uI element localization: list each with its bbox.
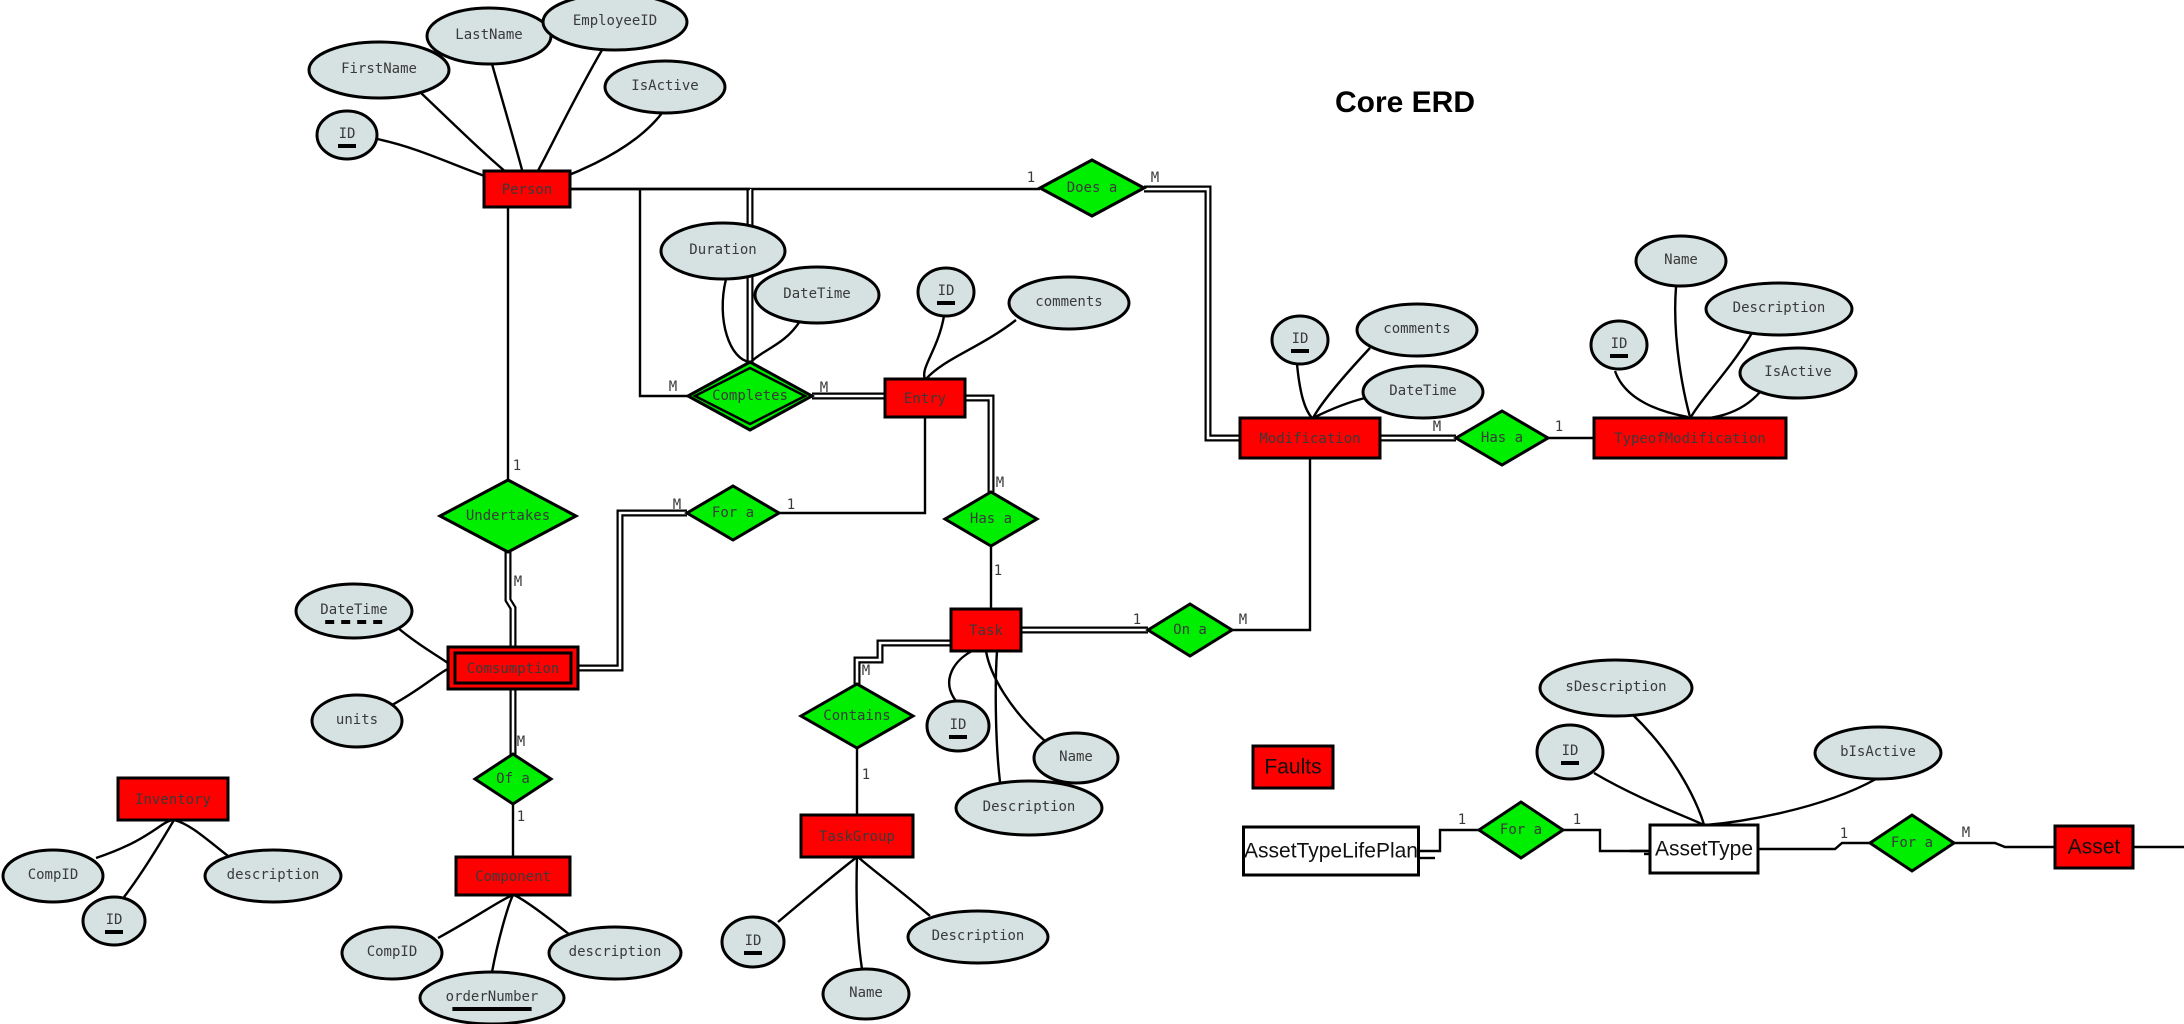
attribute-person-lastname[interactable]: LastName [427, 8, 551, 64]
attribute-person-isactive[interactable]: IsActive [605, 61, 725, 113]
entity-label: Inventory [135, 792, 211, 808]
attribute-label: ID [1611, 336, 1628, 352]
relationship-for-a-atlp[interactable]: For a [1479, 802, 1563, 858]
cardinality-card-undertakes-cons: M [514, 574, 522, 590]
entity-label: TaskGroup [819, 829, 895, 845]
entity-comsumption[interactable]: Comsumption [448, 647, 578, 689]
attribute-cons-datetime[interactable]: DateTime [296, 584, 412, 638]
cardinality-card-fora2-asset: M [1962, 825, 1970, 841]
relationship-for-a-at[interactable]: For a [1870, 815, 1954, 871]
cardinality-card-person-undertakes: 1 [513, 458, 521, 474]
edge-mod-comments [1313, 348, 1370, 418]
entity-label: Modification [1259, 431, 1360, 447]
attribute-label: Description [983, 799, 1076, 815]
attribute-label: DateTime [320, 602, 387, 618]
attribute-label: IsActive [631, 78, 698, 94]
edge-comsumption-fora-inner [578, 513, 687, 668]
edge-cons-datetime [398, 628, 451, 668]
attribute-mod-datetime[interactable]: DateTime [1363, 366, 1483, 418]
attribute-cons-units[interactable]: units [312, 695, 402, 747]
attribute-inv-description[interactable]: description [205, 850, 341, 902]
attribute-label: ID [1292, 331, 1309, 347]
entity-label: Task [969, 623, 1003, 639]
attribute-label: CompID [28, 867, 79, 883]
relationship-label: Contains [823, 708, 890, 724]
relationship-has-a-mod[interactable]: Has a [1456, 411, 1548, 465]
edge-cons-units [392, 669, 448, 705]
attribute-comp-compid[interactable]: CompID [342, 927, 442, 979]
relationship-for-a-entry[interactable]: For a [687, 486, 779, 540]
relationship-completes[interactable]: Completes [688, 362, 812, 430]
entity-typeofmodification[interactable]: TypeofModification [1594, 418, 1786, 458]
page-title: Core ERD [1335, 86, 1475, 119]
edge-at-id [1594, 773, 1704, 825]
attribute-mod-id[interactable]: ID [1272, 316, 1328, 364]
attribute-at-bisactive[interactable]: bIsActive [1815, 727, 1941, 779]
relationship-contains[interactable]: Contains [801, 684, 913, 748]
attribute-label: FirstName [341, 61, 417, 77]
edge-atlp-fora [1419, 830, 1479, 851]
cardinality-card-person-completes: M [669, 379, 677, 395]
relationship-label: On a [1173, 622, 1207, 638]
entity-label: Asset [2068, 836, 2121, 859]
relationship-has-a-task[interactable]: Has a [945, 492, 1037, 546]
edge-doesa-modification [1144, 189, 1240, 438]
attribute-task-id[interactable]: ID [927, 701, 989, 751]
entity-label: Faults [1264, 756, 1321, 779]
attribute-tg-name[interactable]: Name [823, 969, 909, 1019]
relationship-label: Of a [496, 771, 530, 787]
relationship-label: Undertakes [466, 508, 550, 524]
attribute-label: ID [339, 126, 356, 142]
attribute-label: ID [938, 283, 955, 299]
relationship-label: For a [1500, 822, 1542, 838]
cardinality-card-task-ona: 1 [1133, 612, 1141, 628]
attribute-label: description [569, 944, 662, 960]
edge-comp-ordernumber [492, 895, 513, 972]
erd-canvas: PersonEntryModificationTypeofModificatio… [0, 0, 2184, 1024]
entity-component[interactable]: Component [456, 857, 570, 895]
edge-at-bisactive [1706, 779, 1876, 825]
attribute-label: Name [849, 985, 883, 1001]
attribute-label: comments [1383, 321, 1450, 337]
edge-assettype-fora2 [1758, 843, 1872, 849]
cardinality-card-fora-entry: 1 [787, 497, 795, 513]
entity-label: Comsumption [467, 661, 560, 677]
attribute-tg-description[interactable]: Description [908, 911, 1048, 963]
cardinality-card-ona-mod: M [1239, 612, 1247, 628]
attribute-label: DateTime [1389, 383, 1456, 399]
entity-modification[interactable]: Modification [1240, 418, 1380, 458]
attribute-person-id[interactable]: ID [317, 111, 377, 159]
entity-label: Component [475, 869, 551, 885]
attribute-label: Name [1059, 749, 1093, 765]
attribute-person-employeeid[interactable]: EmployeeID [543, 0, 687, 50]
edge-task-contains [857, 643, 951, 684]
attribute-label: ID [106, 912, 123, 928]
relationship-of-a[interactable]: Of a [475, 754, 551, 804]
attribute-completes-datetime[interactable]: DateTime [755, 267, 879, 323]
edge-mod-id [1297, 364, 1312, 418]
attribute-comp-description[interactable]: description [549, 927, 681, 979]
cardinality-card-cons-fora: M [673, 497, 681, 513]
attribute-label: ID [950, 717, 967, 733]
entity-label: AssetType [1655, 838, 1753, 861]
edge-comp-description [514, 895, 570, 935]
cardinality-card-contains-tg: 1 [862, 767, 870, 783]
entity-label: Person [502, 182, 553, 198]
relationship-does-a[interactable]: Does a [1040, 160, 1144, 216]
er-diagram: PersonEntryModificationTypeofModificatio… [0, 0, 2184, 1024]
attribute-label: LastName [455, 27, 522, 43]
relationship-label: Has a [1481, 430, 1523, 446]
edge-tg-id [778, 857, 857, 922]
attribute-label: Duration [689, 242, 756, 258]
cardinality-card-completes-entry: M [820, 380, 828, 396]
attribute-label: ID [1562, 743, 1579, 759]
edge-fora2-asset [1952, 843, 2055, 847]
entities-layer: PersonEntryModificationTypeofModificatio… [118, 171, 2133, 895]
cardinality-card-at-fora2: 1 [1840, 826, 1848, 842]
relationship-label: Completes [712, 388, 788, 404]
entity-assettypelifeplan[interactable]: AssetTypeLifePlan [1244, 827, 1419, 875]
edge-completes-duration [723, 279, 750, 362]
attribute-tg-id[interactable]: ID [722, 917, 784, 967]
edge-mod-datetime [1313, 398, 1365, 418]
edge-person-employeeid [528, 50, 602, 189]
attribute-tom-description[interactable]: Description [1706, 283, 1852, 335]
attribute-label: units [336, 712, 378, 728]
attribute-task-name[interactable]: Name [1034, 733, 1118, 783]
relationship-label: For a [1891, 835, 1933, 851]
entity-entry[interactable]: Entry [885, 379, 965, 417]
attribute-label: DateTime [783, 286, 850, 302]
entity-label: Entry [904, 391, 946, 407]
relationship-label: For a [712, 505, 754, 521]
entity-label: AssetTypeLifePlan [1244, 840, 1418, 863]
attribute-tom-id[interactable]: ID [1591, 321, 1647, 369]
attribute-person-firstname[interactable]: FirstName [309, 42, 449, 98]
cardinality-card-hasa-tom: 1 [1555, 419, 1563, 435]
attribute-label: Description [1733, 300, 1826, 316]
edge-completes-datetime [751, 321, 800, 362]
attribute-tom-isactive[interactable]: IsActive [1740, 348, 1856, 398]
relationship-undertakes[interactable]: Undertakes [440, 480, 576, 552]
edge-doesa-modification-inner [1144, 189, 1240, 438]
edge-comsumption-fora [578, 513, 687, 668]
attribute-label: comments [1035, 294, 1102, 310]
cardinality-card-cons-ofa: M [517, 734, 525, 750]
attribute-entry-id[interactable]: ID [918, 268, 974, 316]
attribute-entry-comments[interactable]: comments [1009, 277, 1129, 329]
cardinality-card-ofa-comp: 1 [517, 809, 525, 825]
attribute-label: ID [745, 933, 762, 949]
entity-label: TypeofModification [1614, 431, 1766, 447]
edge-ona-modification [1232, 458, 1310, 630]
relationship-on-a[interactable]: On a [1148, 604, 1232, 656]
edge-tom-name [1675, 287, 1690, 417]
entity-inventory[interactable]: Inventory [118, 778, 228, 820]
attribute-label: description [227, 867, 320, 883]
cardinality-card-mod-hasa: M [1433, 419, 1441, 435]
attribute-completes-duration[interactable]: Duration [661, 223, 785, 279]
edge-entry-id [924, 316, 944, 379]
relationship-label: Does a [1067, 180, 1118, 196]
edge-inv-description [174, 820, 228, 856]
attribute-label: IsActive [1764, 364, 1831, 380]
edge-task-id [949, 651, 972, 701]
cardinality-card-doesa-mod: M [1151, 170, 1159, 186]
entity-person[interactable]: Person [484, 171, 570, 207]
attribute-task-description[interactable]: Description [956, 781, 1102, 835]
entity-taskgroup[interactable]: TaskGroup [801, 815, 913, 857]
attribute-tom-name[interactable]: Name [1636, 236, 1726, 286]
edge-fora-entry [779, 417, 925, 513]
attribute-comp-ordernumber[interactable]: orderNumber [420, 972, 564, 1024]
attribute-label: orderNumber [446, 989, 539, 1005]
edge-entry-comments [926, 320, 1016, 379]
cardinality-card-atlp-fora: 1 [1458, 812, 1466, 828]
attribute-mod-comments[interactable]: comments [1357, 304, 1477, 356]
attribute-inv-compid[interactable]: CompID [3, 850, 103, 902]
edge-tom-id [1615, 371, 1688, 417]
attribute-inv-id[interactable]: ID [83, 897, 145, 945]
entity-task[interactable]: Task [951, 609, 1021, 651]
attribute-label: Name [1664, 252, 1698, 268]
edge-tg-description [858, 857, 930, 916]
relationship-label: Has a [970, 511, 1012, 527]
cardinality-card-entry-hasa: M [996, 475, 1004, 491]
entity-faults[interactable]: Faults [1253, 746, 1333, 788]
edge-tom-isactive [1692, 392, 1760, 418]
cardinality-card-task-contains: M [862, 663, 870, 679]
attribute-label: sDescription [1565, 679, 1666, 695]
attribute-label: bIsActive [1840, 744, 1916, 760]
edge-person-down-completes [640, 189, 688, 396]
edge-task-description [996, 651, 1000, 782]
cardinality-card-hasa-task: 1 [994, 563, 1002, 579]
edge-fora-assettype [1563, 830, 1650, 851]
attribute-label: EmployeeID [573, 13, 657, 29]
edge-tg-name [857, 857, 862, 969]
entity-asset[interactable]: Asset [2055, 826, 2133, 868]
cardinality-card-person-doesa: 1 [1027, 170, 1035, 186]
cardinality-card-fora-at: 1 [1573, 812, 1581, 828]
edge-inv-id [124, 820, 174, 897]
attribute-label: CompID [367, 944, 418, 960]
attribute-at-id[interactable]: ID [1537, 725, 1603, 779]
attribute-label: Description [932, 928, 1025, 944]
attribute-at-sdescription[interactable]: sDescription [1540, 660, 1692, 716]
entity-assettype[interactable]: AssetType [1650, 825, 1758, 873]
